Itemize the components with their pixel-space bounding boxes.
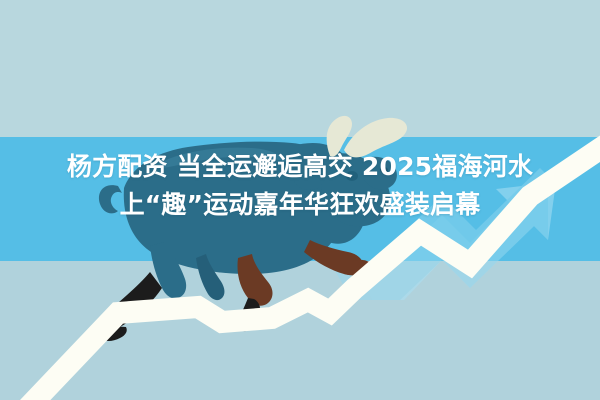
background-upper xyxy=(0,0,600,137)
banner-headline: 杨方配资 当全运邂逅高交 2025福海河水上“趣”运动嘉年华狂欢盛装启幕 xyxy=(0,148,600,224)
banner-image: 杨方配资 当全运邂逅高交 2025福海河水上“趣”运动嘉年华狂欢盛装启幕 xyxy=(0,0,600,400)
